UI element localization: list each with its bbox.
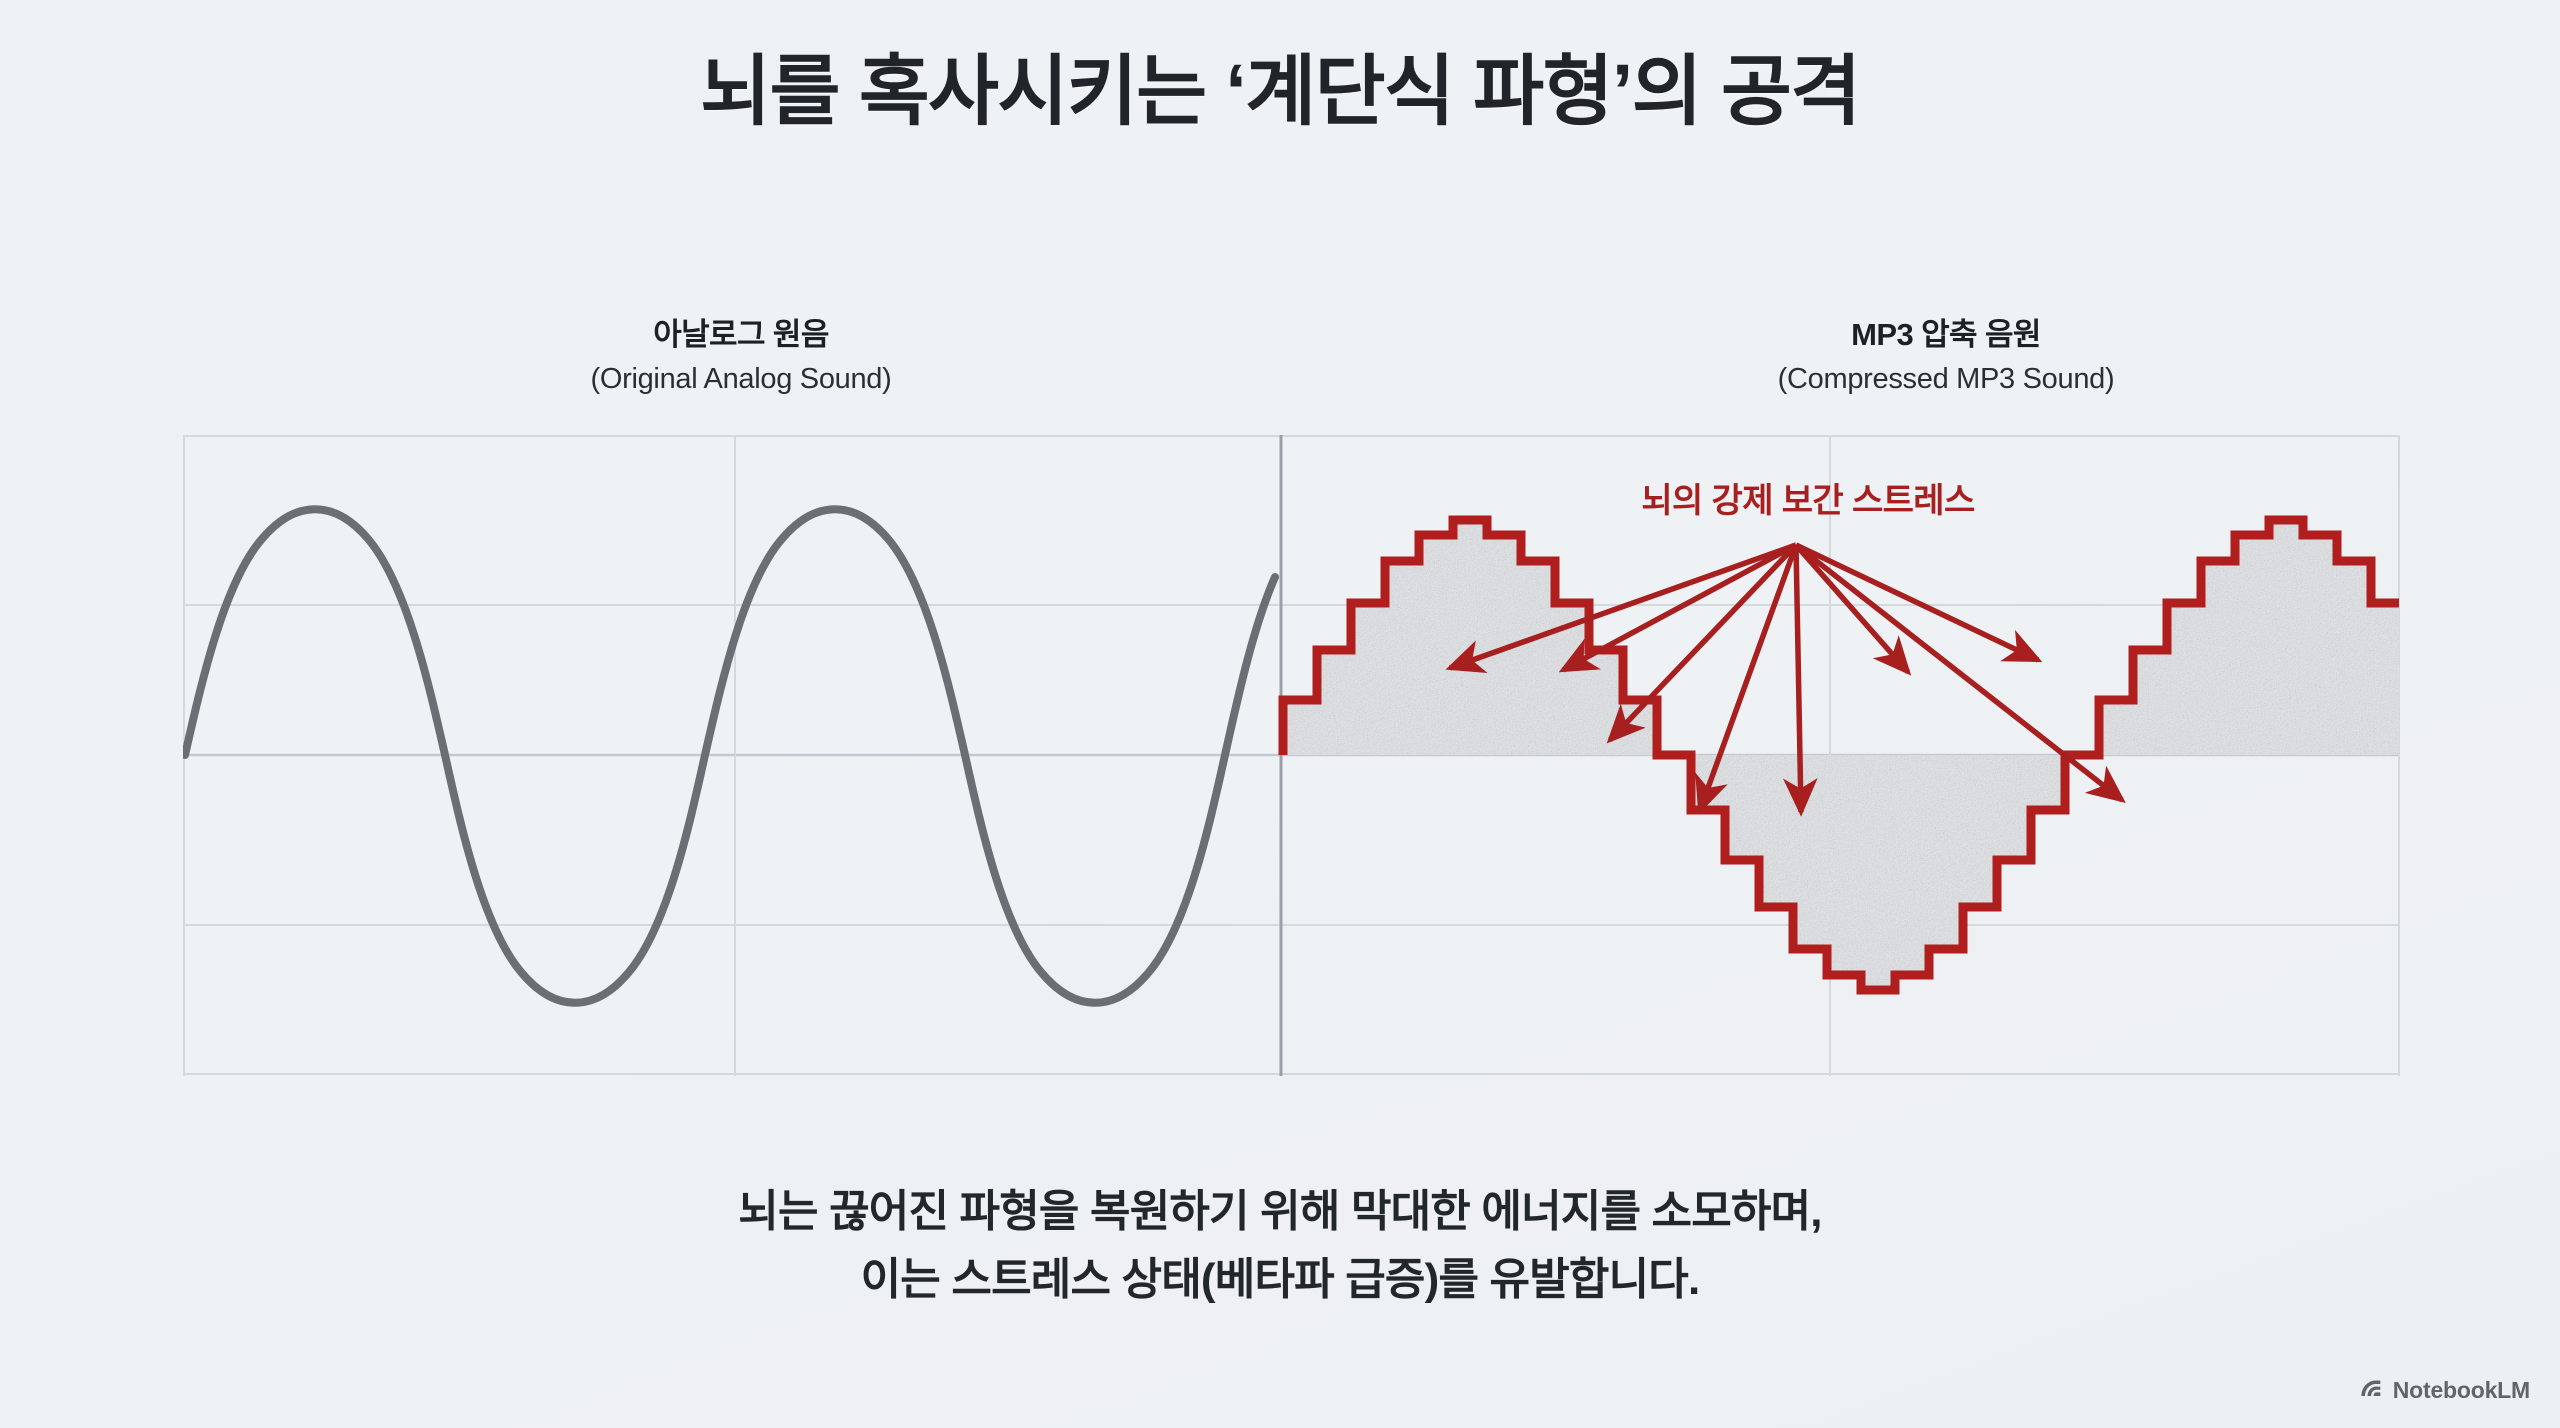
waveform-chart xyxy=(183,435,2400,1075)
caption-line-1: 뇌는 끊어진 파형을 복원하기 위해 막대한 에너지를 소모하며, xyxy=(738,1187,1821,1236)
caption-line-2: 이는 스트레스 상태(베타파 급증)를 유발합니다. xyxy=(0,1246,2560,1314)
notebooklm-watermark: NotebookLM xyxy=(2358,1375,2530,1406)
notebooklm-label: NotebookLM xyxy=(2393,1377,2530,1404)
panel-heading-mp3: MP3 압축 음원 (Compressed MP3 Sound) xyxy=(1566,316,2326,398)
panel-heading-mp3-en: (Compressed MP3 Sound) xyxy=(1566,361,2326,399)
panel-heading-mp3-kr: MP3 압축 음원 xyxy=(1566,316,2326,355)
mp3-staircase-fill-tail xyxy=(2099,755,2399,995)
page-title: 뇌를 혹사시키는 ‘계단식 파형’의 공격 xyxy=(0,48,2560,137)
infographic-canvas: 뇌를 혹사시키는 ‘계단식 파형’의 공격 아날로그 원음 (Original … xyxy=(0,0,2560,1428)
notebooklm-spiral-icon xyxy=(2358,1375,2384,1406)
panel-heading-analog: 아날로그 원음 (Original Analog Sound) xyxy=(361,316,1121,398)
caption: 뇌는 끊어진 파형을 복원하기 위해 막대한 에너지를 소모하며, 이는 스트레… xyxy=(0,1178,2560,1314)
mp3-staircase-fill-lower xyxy=(1691,755,2065,990)
panel-heading-analog-en: (Original Analog Sound) xyxy=(361,361,1121,399)
panel-heading-analog-kr: 아날로그 원음 xyxy=(361,316,1121,355)
